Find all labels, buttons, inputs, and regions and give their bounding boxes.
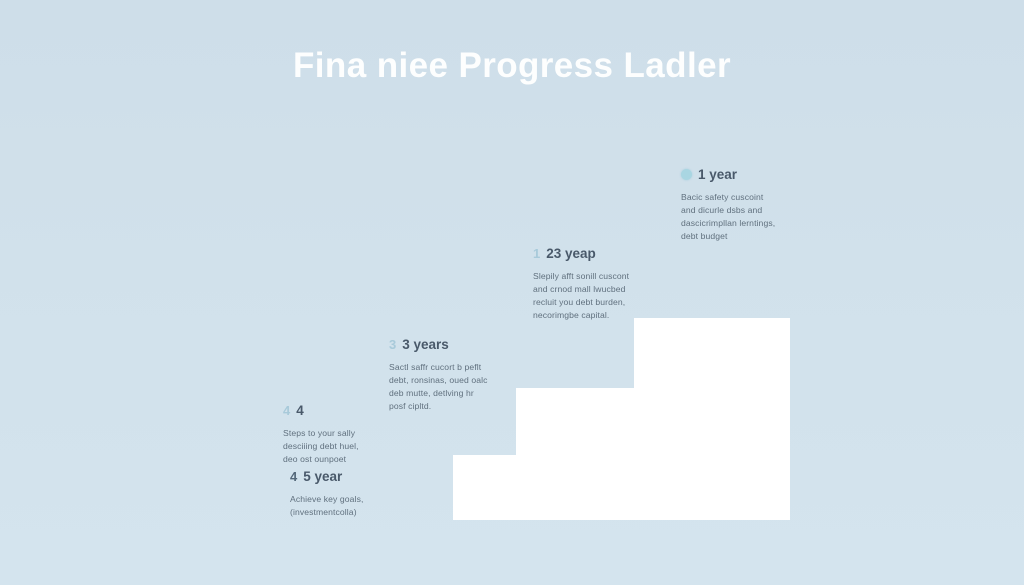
ladder-step-5[interactable]: 4 5 year Achieve key goals, (investmentc… bbox=[290, 470, 408, 519]
step-2-header: 1 23 yeap bbox=[533, 247, 661, 261]
stair-block-middle bbox=[516, 388, 790, 520]
step-4-title: 4 bbox=[296, 404, 304, 418]
step-4-marker: 4 bbox=[283, 404, 290, 417]
step-1-body-line: dascicrimpllan lerntings, bbox=[681, 217, 803, 230]
step-2-body-line: Slepily afft sonill cuscont bbox=[533, 270, 661, 283]
step-1-body-line: debt budget bbox=[681, 230, 803, 243]
step-3-title: 3 years bbox=[402, 338, 449, 352]
step-5-header: 4 5 year bbox=[290, 470, 408, 484]
step-4-body: Steps to your sally desciiing debt huel,… bbox=[283, 427, 401, 466]
ladder-step-4[interactable]: 4 4 Steps to your sally desciiing debt h… bbox=[283, 404, 401, 466]
ladder-step-3[interactable]: 3 3 years Sactl saffr cucort b peflt deb… bbox=[389, 338, 511, 413]
step-3-body-line: deb mutte, detlving hr bbox=[389, 387, 511, 400]
step-5-body: Achieve key goals, (investmentcolla) bbox=[290, 493, 408, 519]
step-2-body: Slepily afft sonill cuscont and crnod ma… bbox=[533, 270, 661, 322]
step-3-body-line: Sactl saffr cucort b peflt bbox=[389, 361, 511, 374]
step-4-body-line: Steps to your sally bbox=[283, 427, 401, 440]
step-1-body-line: Bacic safety cuscoint bbox=[681, 191, 803, 204]
ladder-step-2[interactable]: 1 23 yeap Slepily afft sonill cuscont an… bbox=[533, 247, 661, 322]
step-3-header: 3 3 years bbox=[389, 338, 511, 352]
step-1-body: Bacic safety cuscoint and dicurle dsbs a… bbox=[681, 191, 803, 243]
dot-icon bbox=[681, 169, 692, 180]
slide-canvas: Fina niee Progress Ladler 1 year Bacic s… bbox=[0, 0, 1024, 585]
ladder-step-1[interactable]: 1 year Bacic safety cuscoint and dicurle… bbox=[681, 168, 803, 243]
step-1-title: 1 year bbox=[698, 168, 737, 182]
step-4-header: 4 4 bbox=[283, 404, 401, 418]
step-5-body-line: Achieve key goals, bbox=[290, 493, 408, 506]
page-title: Fina niee Progress Ladler bbox=[0, 46, 1024, 86]
stair-block-bottom bbox=[453, 455, 790, 520]
step-4-body-line: deo ost ounpoet bbox=[283, 453, 401, 466]
step-3-body-line: debt, ronsinas, oued oalc bbox=[389, 374, 511, 387]
step-4-body-line: desciiing debt huel, bbox=[283, 440, 401, 453]
step-3-body-line: posf cipltd. bbox=[389, 400, 511, 413]
step-2-title: 23 yeap bbox=[546, 247, 596, 261]
step-2-body-line: and crnod mall lwucbed bbox=[533, 283, 661, 296]
step-5-body-line: (investmentcolla) bbox=[290, 506, 408, 519]
step-2-marker: 1 bbox=[533, 247, 540, 260]
stair-block-top bbox=[634, 318, 790, 520]
step-1-header: 1 year bbox=[681, 168, 803, 182]
step-5-title: 5 year bbox=[303, 470, 342, 484]
step-3-marker: 3 bbox=[389, 338, 396, 351]
step-3-body: Sactl saffr cucort b peflt debt, ronsina… bbox=[389, 361, 511, 413]
step-2-body-line: recluit you debt burden, bbox=[533, 296, 661, 309]
progress-staircase bbox=[0, 0, 1024, 585]
step-2-body-line: necorimgbe capital. bbox=[533, 309, 661, 322]
step-5-marker: 4 bbox=[290, 470, 297, 483]
step-1-body-line: and dicurle dsbs and bbox=[681, 204, 803, 217]
